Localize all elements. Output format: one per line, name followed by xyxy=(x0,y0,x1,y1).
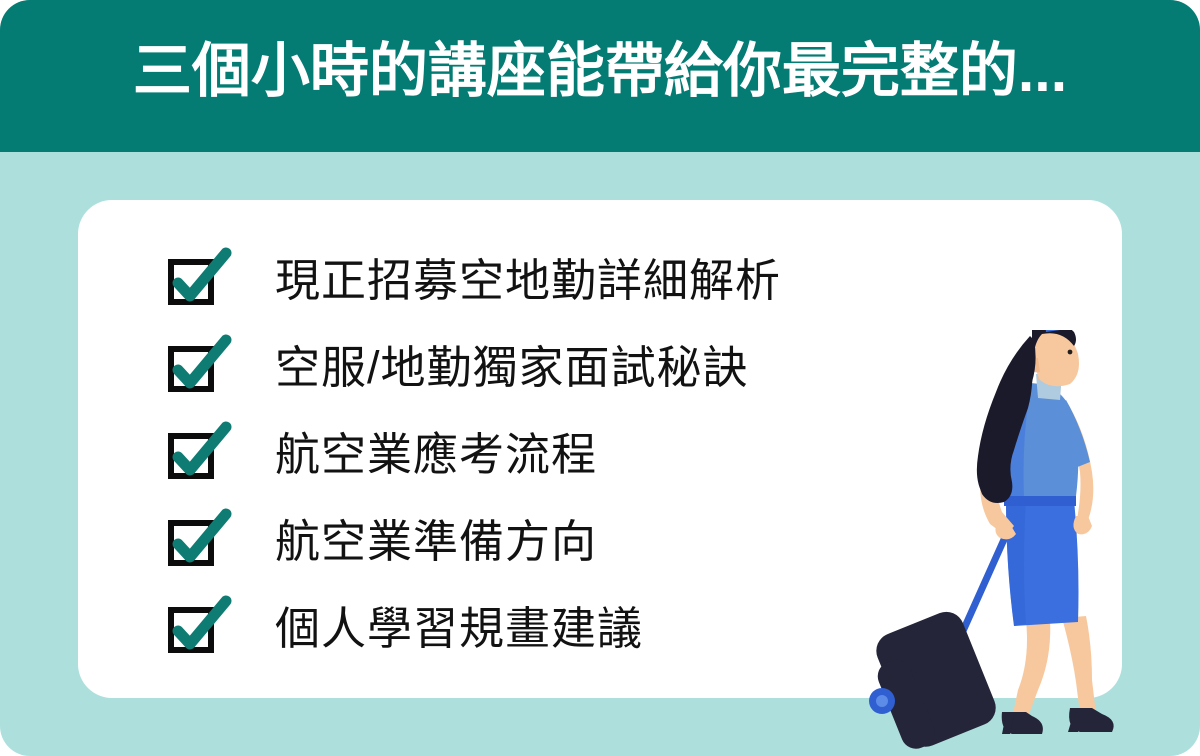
checkbox-checked-icon[interactable] xyxy=(168,257,216,305)
suitcase-wheel-icon xyxy=(869,688,895,714)
shoe-icon xyxy=(1002,712,1043,734)
checkbox-checked-icon[interactable] xyxy=(168,605,216,653)
list-item[interactable]: 現正招募空地勤詳細解析 xyxy=(168,237,828,324)
suitcase-icon xyxy=(863,606,1001,750)
page-title: 三個小時的講座能帶給你最完整的... xyxy=(133,41,1067,103)
slide-root: 三個小時的講座能帶給你最完整的... 現正招募空地勤詳細解析 空服/地勤獨家面試… xyxy=(0,0,1200,756)
checkbox-checked-icon[interactable] xyxy=(168,344,216,392)
list-item[interactable]: 空服/地勤獨家面試秘訣 xyxy=(168,324,828,411)
list-item-label: 現正招募空地勤詳細解析 xyxy=(275,258,781,303)
flight-attendant-illustration xyxy=(830,330,1160,750)
list-item[interactable]: 航空業準備方向 xyxy=(168,498,828,585)
list-item-label: 航空業應考流程 xyxy=(275,432,597,477)
checkbox-checked-icon[interactable] xyxy=(168,431,216,479)
list-item[interactable]: 航空業應考流程 xyxy=(168,411,828,498)
list-item-label: 個人學習規畫建議 xyxy=(275,606,643,651)
checkbox-checked-icon[interactable] xyxy=(168,518,216,566)
header-band: 三個小時的講座能帶給你最完整的... xyxy=(0,0,1200,152)
list-item[interactable]: 個人學習規畫建議 xyxy=(168,585,828,672)
shoe-icon xyxy=(1068,708,1114,732)
checklist: 現正招募空地勤詳細解析 空服/地勤獨家面試秘訣 航空業應考流程 xyxy=(168,237,828,672)
list-item-label: 空服/地勤獨家面試秘訣 xyxy=(275,345,749,390)
list-item-label: 航空業準備方向 xyxy=(275,519,597,564)
